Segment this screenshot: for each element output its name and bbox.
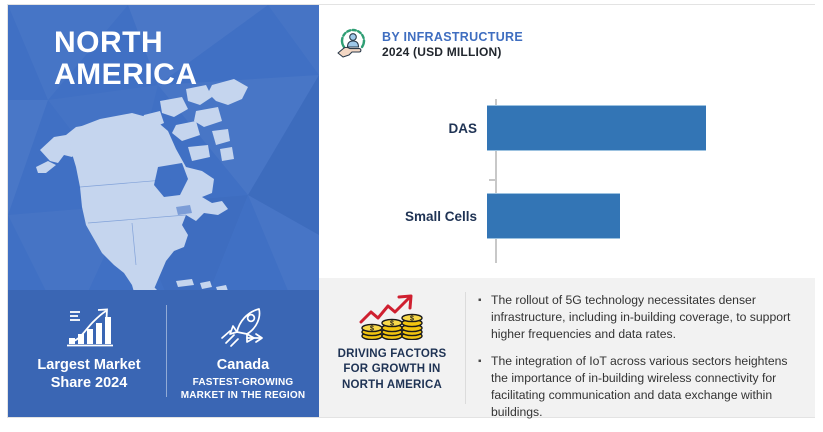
svg-text:$: $ [410, 316, 414, 323]
infographic-root: NORTH AMERICA [0, 0, 823, 423]
bar-small-cells [487, 193, 620, 239]
page-title: NORTH AMERICA [54, 27, 198, 92]
bar-row: DAS [319, 105, 815, 151]
growth-bar-chart-icon-svg [61, 304, 117, 348]
rocket-icon-svg [217, 304, 269, 348]
rocket-icon [170, 302, 316, 348]
driving-factors-panel: $ $ [319, 278, 815, 417]
stat-largest-market-share: Largest Market Share 2024 [14, 302, 164, 395]
driving-factors-heading: $ $ [319, 278, 465, 393]
north-america-map [36, 75, 306, 300]
driving-factors-list: ▪ The rollout of 5G technology necessita… [466, 278, 815, 432]
list-item-text: The rollout of 5G technology necessitate… [491, 292, 799, 342]
bar-label: Small Cells [319, 209, 487, 224]
region-panel: NORTH AMERICA [8, 5, 319, 417]
list-item: ▪ The integration of IoT across various … [478, 353, 799, 420]
bar-das [487, 105, 706, 151]
stat-subtitle: FASTEST-GROWING MARKET IN THE REGION [170, 377, 316, 403]
bullet-marker: ▪ [478, 292, 491, 342]
svg-text:$: $ [390, 321, 394, 328]
axis-tick [489, 179, 496, 181]
stat-fastest-growing-country: Canada FASTEST-GROWING MARKET IN THE REG… [170, 302, 316, 403]
hand-holding-person-icon [335, 24, 371, 65]
chart-panel: BY INFRASTRUCTURE 2024 (USD MILLION) DAS… [319, 5, 815, 278]
svg-text:$: $ [370, 326, 374, 333]
list-item-text: The integration of IoT across various se… [491, 353, 799, 420]
stat-title: Largest Market Share 2024 [14, 356, 164, 392]
chart-header-text: BY INFRASTRUCTURE 2024 (USD MILLION) [382, 30, 523, 60]
bar-chart: DAS Small Cells [319, 91, 815, 271]
coins-growth-arrow-icon-svg: $ $ [355, 292, 429, 340]
growth-bar-chart-icon [14, 302, 164, 348]
chart-subtitle: 2024 (USD MILLION) [382, 45, 523, 59]
driving-factors-label: DRIVING FACTORS FOR GROWTH IN NORTH AMER… [319, 347, 465, 393]
hand-holding-person-icon-svg [335, 24, 371, 60]
map-icon [36, 75, 306, 300]
coins-growth-arrow-icon: $ $ [319, 292, 465, 340]
stats-divider [166, 305, 167, 397]
region-stats-band: Largest Market Share 2024 [8, 290, 319, 417]
bullet-marker: ▪ [478, 353, 491, 420]
chart-header: BY INFRASTRUCTURE 2024 (USD MILLION) [335, 24, 523, 65]
chart-title: BY INFRASTRUCTURE [382, 30, 523, 45]
stat-title: Canada [170, 356, 316, 374]
bar-label: DAS [319, 121, 487, 136]
bar-row: Small Cells [319, 193, 815, 239]
list-item: ▪ The rollout of 5G technology necessita… [478, 292, 799, 342]
